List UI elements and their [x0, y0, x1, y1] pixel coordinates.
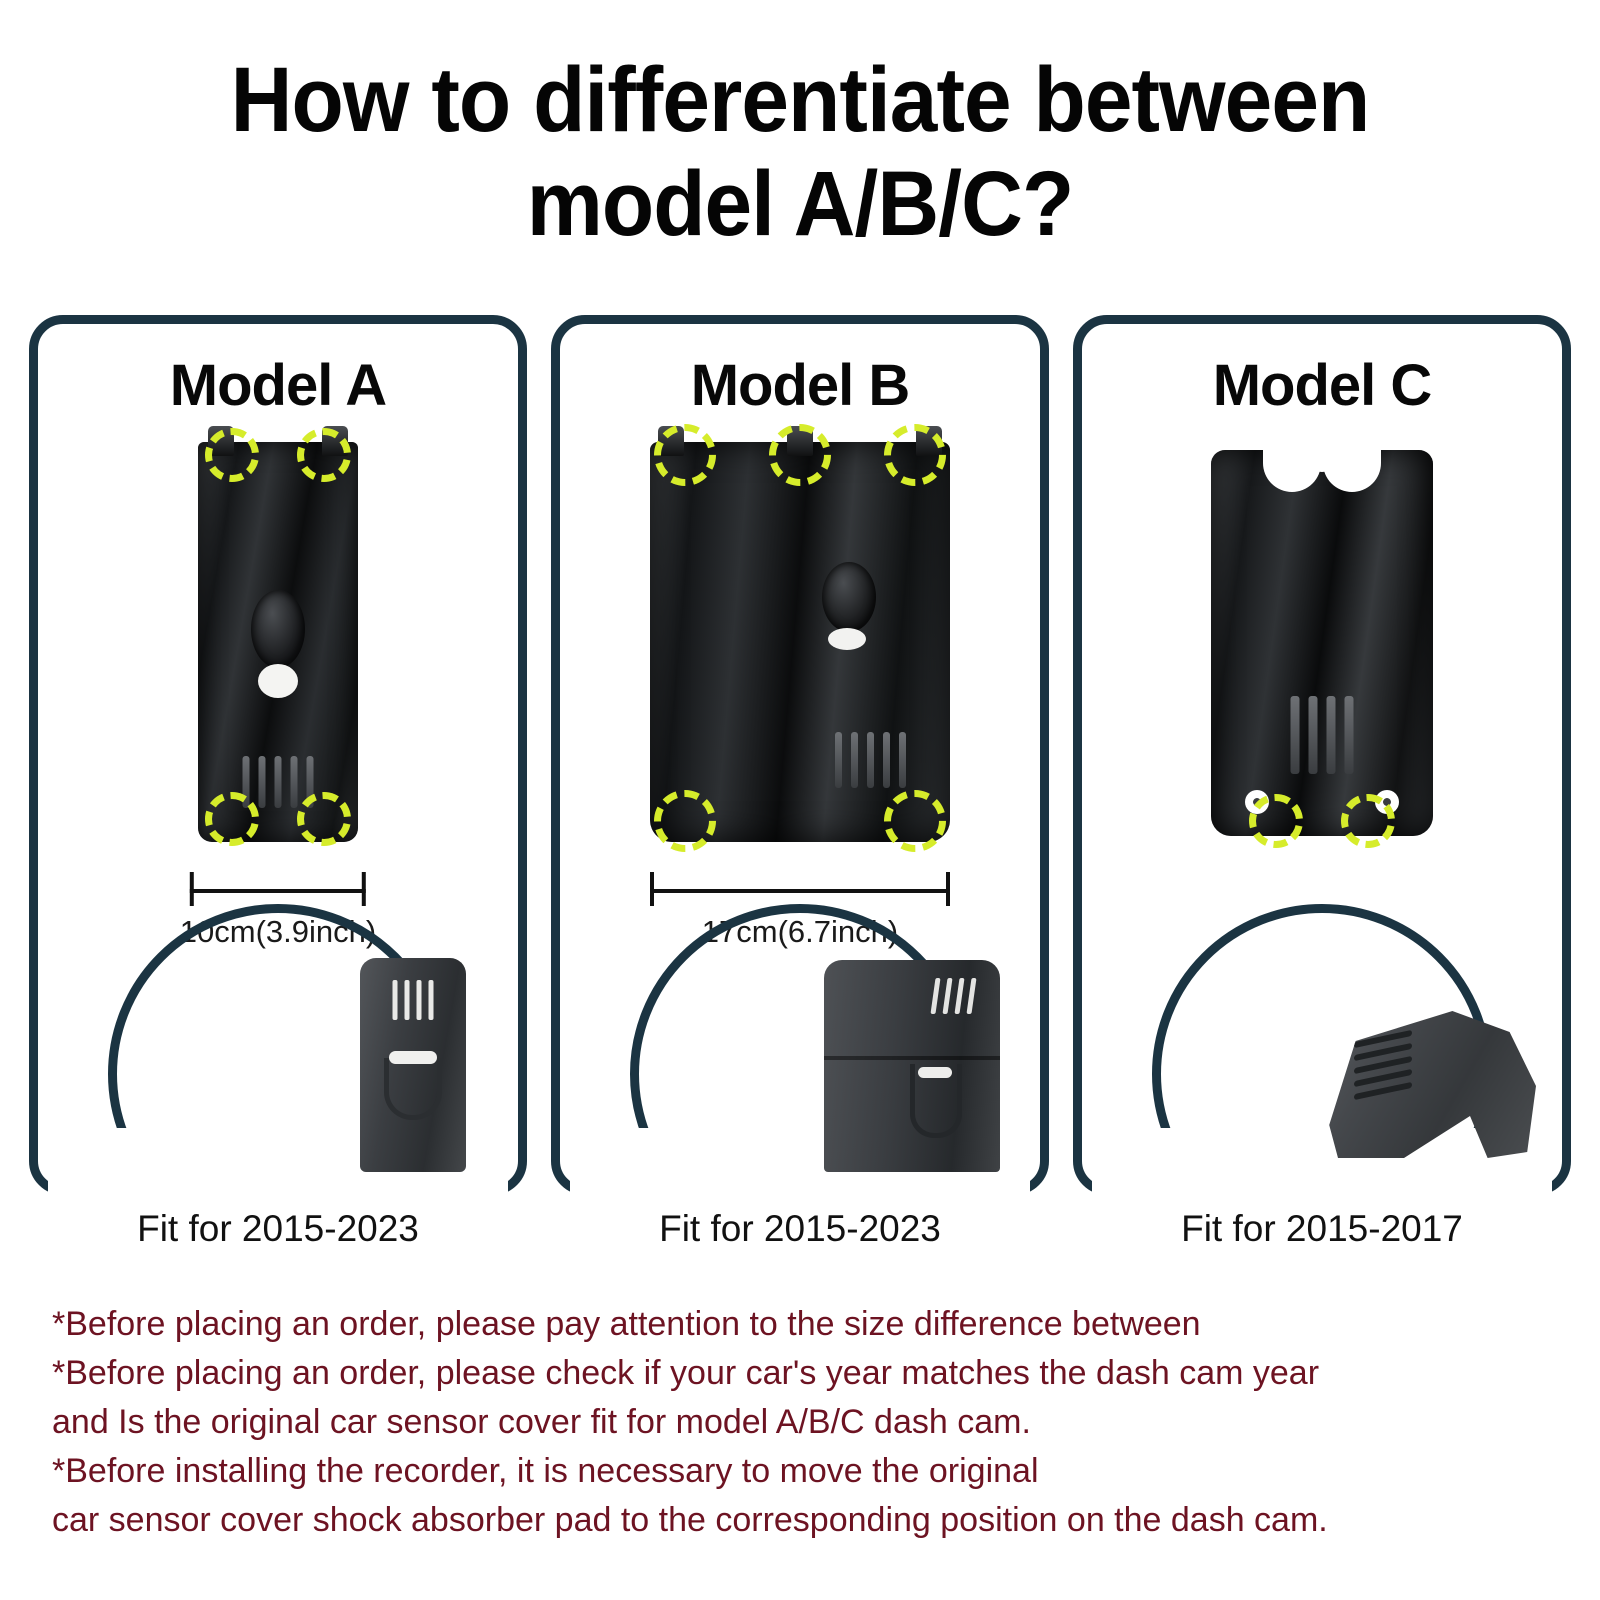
model-c-heading: Model C — [1082, 352, 1562, 419]
highlight-circle — [1249, 794, 1303, 848]
model-a-heading: Model A — [38, 352, 518, 419]
product-cover-b — [824, 960, 1000, 1172]
vent-slots — [835, 732, 906, 788]
fit-labels-row: Fit for 2015-2023 Fit for 2015-2023 Fit … — [0, 1208, 1600, 1250]
title-line-1: How to differentiate between — [56, 48, 1544, 152]
highlight-circle — [297, 792, 351, 846]
top-notch — [1323, 446, 1381, 492]
model-b-heading: Model B — [560, 352, 1040, 419]
model-card-a[interactable]: Model A 10cm(3.9inch) — [29, 315, 527, 1195]
model-cards-row: Model A 10cm(3.9inch) — [0, 315, 1600, 1195]
page-title: How to differentiate between model A/B/C… — [0, 0, 1600, 256]
vent-slots — [1291, 696, 1354, 774]
note-line: and Is the original car sensor cover fit… — [52, 1398, 1572, 1447]
note-line: *Before placing an order, please pay att… — [52, 1300, 1572, 1349]
bracket-image-b — [650, 442, 950, 842]
product-seam — [824, 1056, 1000, 1060]
product-vents — [930, 978, 976, 1014]
fit-label-c: Fit for 2015-2017 — [1073, 1208, 1571, 1250]
model-card-c[interactable]: Model C — [1073, 315, 1571, 1195]
dimension-bar — [190, 872, 366, 906]
highlight-circle — [654, 790, 716, 852]
model-c-photo — [1082, 434, 1562, 854]
bracket-image-a — [198, 442, 358, 842]
highlight-circle — [1341, 794, 1395, 848]
highlight-circle — [205, 792, 259, 846]
model-b-photo — [560, 434, 1040, 854]
highlight-circle — [884, 424, 946, 486]
dimension-bar — [650, 872, 950, 906]
highlight-circle — [884, 790, 946, 852]
title-line-2: model A/B/C? — [56, 152, 1544, 256]
product-vents — [1354, 1030, 1412, 1100]
highlight-circle — [769, 424, 831, 486]
highlight-circle — [205, 428, 259, 482]
bracket-image-c — [1211, 450, 1433, 836]
footer-notes: *Before placing an order, please pay att… — [52, 1300, 1572, 1545]
fit-label-a: Fit for 2015-2023 — [29, 1208, 527, 1250]
product-cover-a — [360, 958, 466, 1172]
note-line: car sensor cover shock absorber pad to t… — [52, 1496, 1572, 1545]
note-line: *Before placing an order, please check i… — [52, 1349, 1572, 1398]
product-loop — [384, 1058, 442, 1120]
model-a-photo — [38, 434, 518, 854]
product-vents — [393, 980, 434, 1020]
highlight-circle — [654, 424, 716, 486]
model-card-b[interactable]: Model B 17cm(6.7inch) — [551, 315, 1049, 1195]
product-loop — [910, 1064, 962, 1138]
fit-label-b: Fit for 2015-2023 — [551, 1208, 1049, 1250]
note-line: *Before installing the recorder, it is n… — [52, 1447, 1572, 1496]
highlight-circle — [297, 428, 351, 482]
